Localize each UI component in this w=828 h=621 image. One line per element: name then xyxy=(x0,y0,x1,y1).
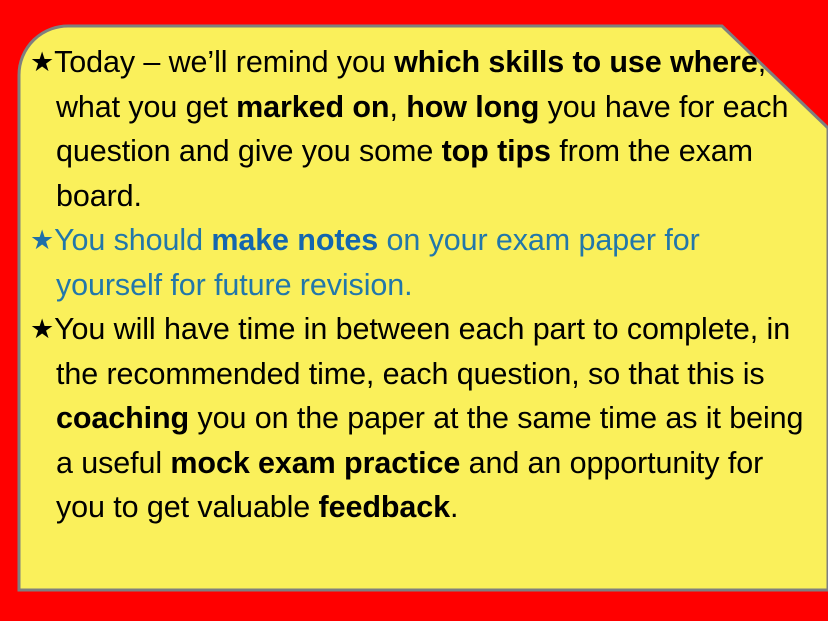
text-run: . xyxy=(450,490,458,524)
text-run: You will have time in between each part … xyxy=(54,312,790,391)
emphasised-text-run: marked on xyxy=(236,90,389,124)
text-run: You should xyxy=(54,223,211,257)
star-bullet-icon: ★ xyxy=(30,225,54,255)
bullet-paragraph-1: ★Today – we’ll remind you which skills t… xyxy=(30,40,808,218)
emphasised-text-run: make notes xyxy=(211,223,378,257)
text-run: , xyxy=(389,90,406,124)
emphasised-text-run: coaching xyxy=(56,401,189,435)
bullet-paragraph-2: ★You should make notes on your exam pape… xyxy=(30,218,808,307)
emphasised-text-run: top tips xyxy=(442,134,551,168)
star-bullet-icon: ★ xyxy=(30,314,54,344)
emphasised-text-run: mock exam practice xyxy=(170,446,460,480)
slide-canvas: ★Today – we’ll remind you which skills t… xyxy=(0,0,828,621)
emphasised-text-run: which skills to use where xyxy=(394,45,758,79)
bullet-paragraph-3: ★You will have time in between each part… xyxy=(30,307,808,530)
callout-body: ★Today – we’ll remind you which skills t… xyxy=(30,40,808,585)
emphasised-text-run: how long xyxy=(406,90,539,124)
emphasised-text-run: feedback xyxy=(319,490,450,524)
star-bullet-icon: ★ xyxy=(30,47,54,77)
text-run: Today – we’ll remind you xyxy=(54,45,394,79)
